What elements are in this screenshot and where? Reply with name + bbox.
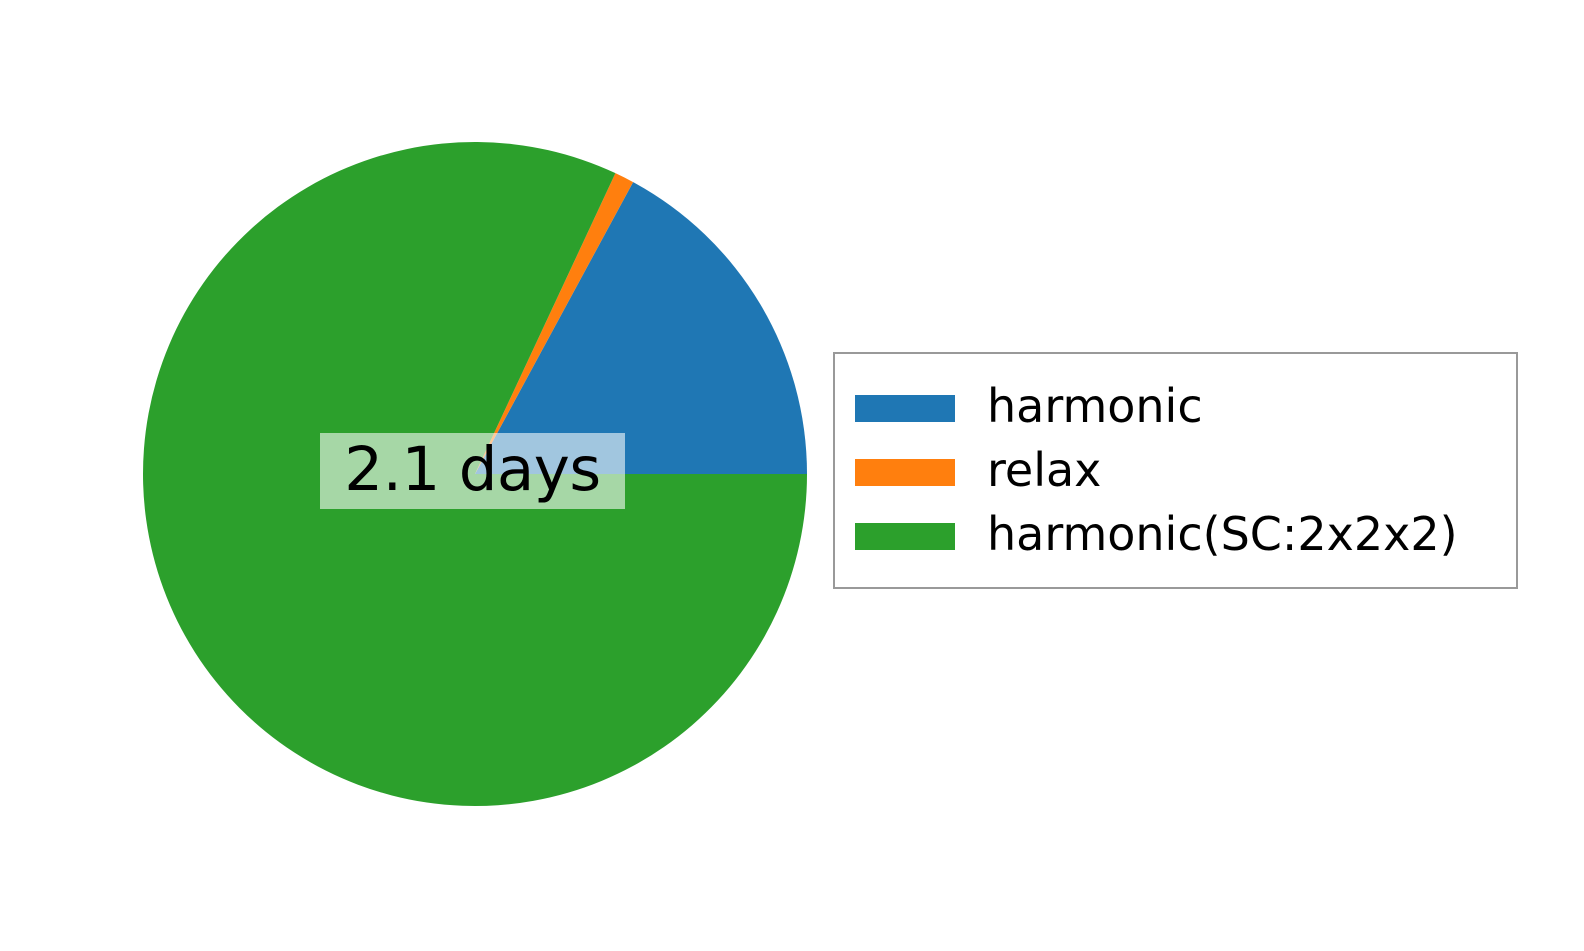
legend-label-relax: relax — [987, 447, 1101, 497]
legend-item-harmonic[interactable]: harmonic — [855, 376, 1516, 440]
legend-item-relax[interactable]: relax — [855, 440, 1516, 504]
legend-label-harmonic: harmonic — [987, 383, 1203, 433]
legend-label-harmonic-sc: harmonic(SC:2x2x2) — [987, 511, 1458, 561]
legend-item-harmonic-sc[interactable]: harmonic(SC:2x2x2) — [855, 504, 1516, 568]
legend-swatch-harmonic-sc — [855, 523, 955, 550]
legend-swatch-relax — [855, 459, 955, 486]
pie-center-label: 2.1 days — [320, 433, 625, 509]
figure-canvas: 2.1 days harmonic relax harmonic(SC:2x2x… — [0, 0, 1584, 951]
chart-legend: harmonic relax harmonic(SC:2x2x2) — [833, 352, 1518, 589]
legend-swatch-harmonic — [855, 395, 955, 422]
